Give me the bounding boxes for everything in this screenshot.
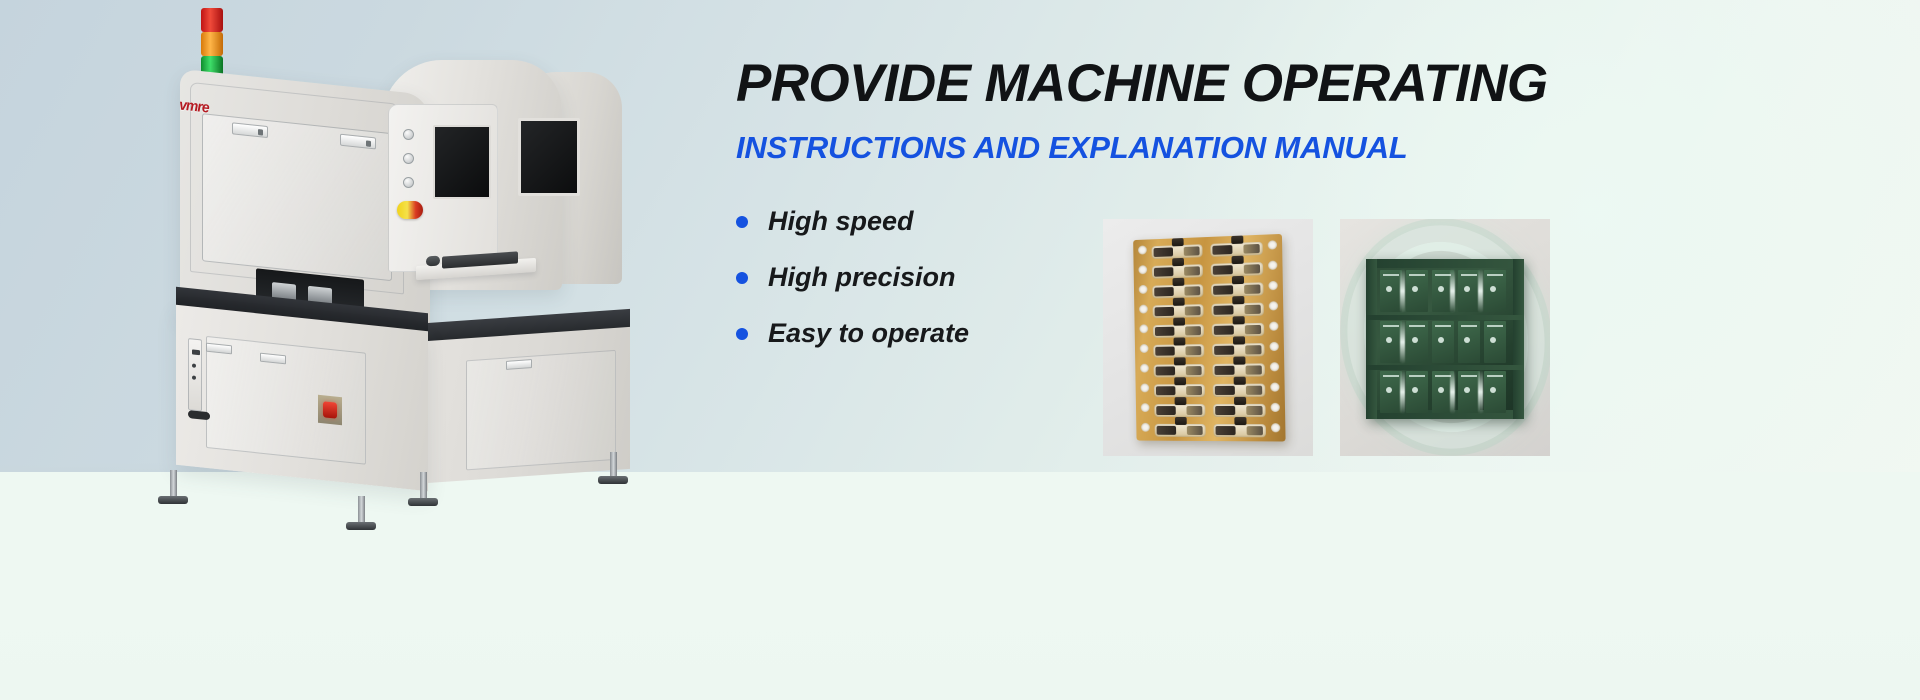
product-image-green-pcb-panel bbox=[1340, 219, 1550, 456]
io-port-1 bbox=[192, 349, 200, 355]
banner-headline: PROVIDE MACHINE OPERATING bbox=[736, 56, 1516, 112]
laser-depaneling-machine-image: vmre bbox=[120, 0, 680, 560]
machine-brand-logo: vmre bbox=[179, 96, 208, 116]
control-button-2 bbox=[403, 153, 414, 164]
main-power-switch-icon bbox=[323, 401, 337, 418]
gold-fpc-board bbox=[1133, 234, 1285, 442]
emergency-stop-button-icon bbox=[397, 201, 423, 219]
io-connector-panel bbox=[188, 338, 202, 411]
stack-light-red-icon bbox=[201, 8, 223, 32]
feature-label: Easy to operate bbox=[768, 318, 969, 349]
cabinet-handle-3 bbox=[506, 359, 532, 370]
cabinet-door-side bbox=[466, 350, 616, 470]
control-button-3 bbox=[403, 177, 414, 188]
product-image-gold-fpc-panel bbox=[1103, 219, 1313, 456]
machine-control-panel bbox=[388, 104, 498, 272]
machine-display-screen bbox=[433, 125, 491, 199]
banner-subheadline: INSTRUCTIONS AND EXPLANATION MANUAL bbox=[736, 130, 1516, 166]
feature-label: High precision bbox=[768, 262, 956, 293]
green-pcb-board bbox=[1366, 259, 1524, 419]
io-cable bbox=[188, 410, 210, 420]
bullet-dot-icon bbox=[736, 328, 748, 340]
io-port-2 bbox=[192, 363, 196, 367]
feature-label: High speed bbox=[768, 206, 914, 237]
bullet-dot-icon bbox=[736, 272, 748, 284]
machine-cabinet-front bbox=[176, 305, 428, 491]
cabinet-door-front bbox=[206, 336, 366, 465]
promo-banner: vmre bbox=[0, 0, 1920, 700]
stack-light-amber-icon bbox=[201, 32, 223, 56]
bullet-dot-icon bbox=[736, 216, 748, 228]
io-port-3 bbox=[192, 375, 196, 379]
machine-display-screen-secondary bbox=[518, 118, 580, 196]
control-button-1 bbox=[403, 129, 414, 140]
machine-cabinet-side bbox=[426, 327, 630, 483]
